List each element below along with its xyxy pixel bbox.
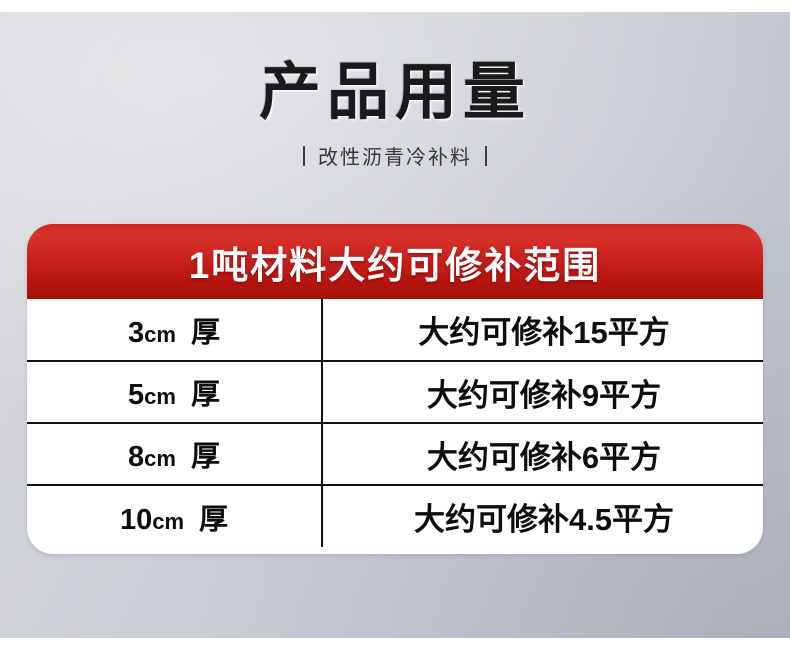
thickness-cell: 5cm厚 xyxy=(27,361,322,423)
area-cell: 大约可修补15平方 xyxy=(322,299,763,361)
subtitle-rule-left-icon xyxy=(303,146,305,166)
header-block: 产品用量 改性沥青冷补料 xyxy=(0,60,790,170)
table-row: 10cm厚 大约可修补4.5平方 xyxy=(27,485,763,547)
table-row: 5cm厚 大约可修补9平方 xyxy=(27,361,763,423)
thickness-value: 8 xyxy=(128,441,144,473)
usage-table: 3cm厚 大约可修补15平方 5cm厚 大约可修补9平方 8cm厚 大约可修补6… xyxy=(27,299,763,547)
table-row: 3cm厚 大约可修补15平方 xyxy=(27,299,763,361)
thickness-cell: 10cm厚 xyxy=(27,485,322,547)
thickness-unit: cm xyxy=(144,384,176,409)
thickness-word: 厚 xyxy=(191,379,220,411)
area-cell: 大约可修补9平方 xyxy=(322,361,763,423)
usage-table-body: 3cm厚 大约可修补15平方 5cm厚 大约可修补9平方 8cm厚 大约可修补6… xyxy=(27,299,763,547)
thickness-word: 厚 xyxy=(191,441,220,473)
thickness-value: 5 xyxy=(128,379,144,411)
product-usage-infographic: 产品用量 改性沥青冷补料 1吨材料大约可修补范围 3cm厚 大约可修补15平方 xyxy=(0,0,790,651)
area-cell: 大约可修补6平方 xyxy=(322,423,763,485)
thickness-cell: 3cm厚 xyxy=(27,299,322,361)
thickness-word: 厚 xyxy=(191,317,220,349)
subtitle-row: 改性沥青冷补料 xyxy=(0,141,790,170)
area-cell: 大约可修补4.5平方 xyxy=(322,485,763,547)
thickness-cell: 8cm厚 xyxy=(27,423,322,485)
page-title: 产品用量 xyxy=(0,60,790,125)
card-banner: 1吨材料大约可修补范围 xyxy=(27,224,763,299)
page-subtitle: 改性沥青冷补料 xyxy=(318,141,472,170)
thickness-value: 10 xyxy=(120,504,152,536)
thickness-value: 3 xyxy=(128,317,144,349)
thickness-word: 厚 xyxy=(199,504,228,536)
thickness-unit: cm xyxy=(144,322,176,347)
card-banner-title: 1吨材料大约可修补范围 xyxy=(189,235,602,289)
thickness-unit: cm xyxy=(152,509,184,534)
subtitle-rule-right-icon xyxy=(485,146,487,166)
usage-table-card: 1吨材料大约可修补范围 3cm厚 大约可修补15平方 5cm厚 大约可修补9平方 xyxy=(27,224,763,554)
thickness-unit: cm xyxy=(144,446,176,471)
table-row: 8cm厚 大约可修补6平方 xyxy=(27,423,763,485)
